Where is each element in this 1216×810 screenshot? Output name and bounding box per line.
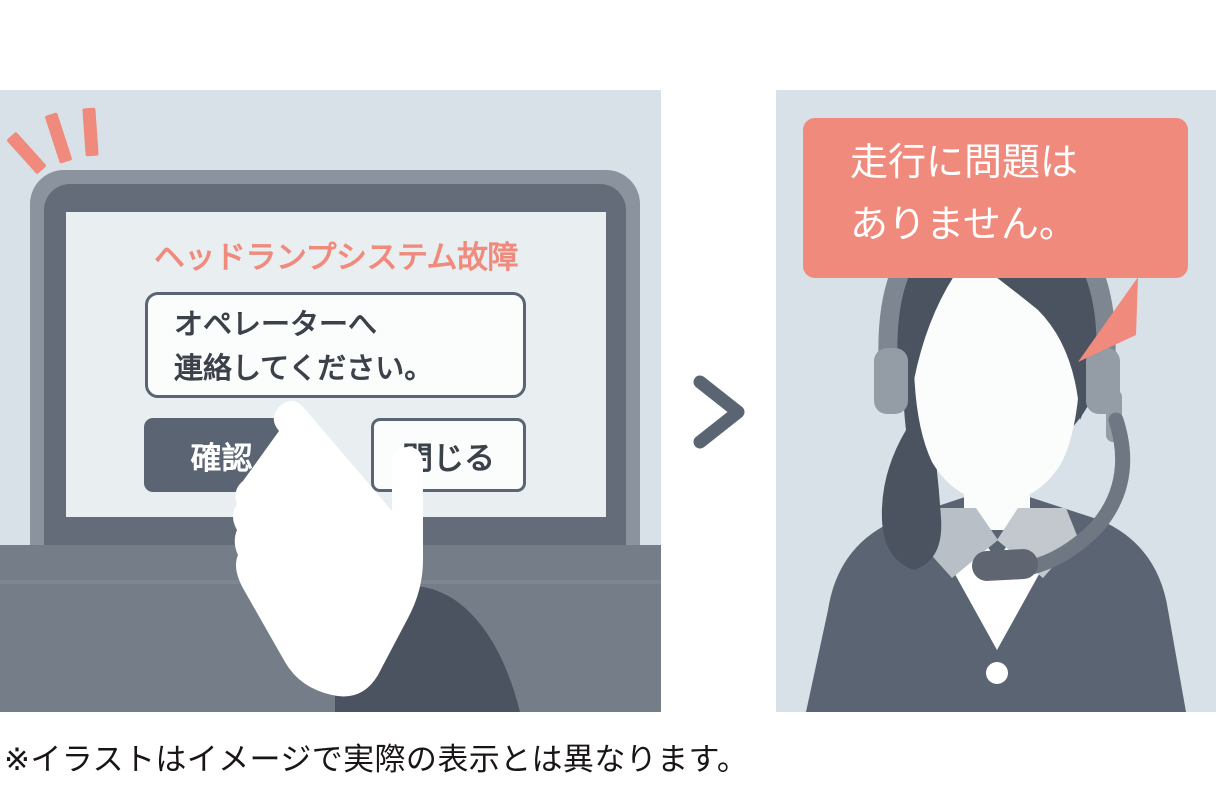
speech-bubble-tail-icon (1078, 277, 1138, 362)
flash-line-icon (82, 108, 98, 157)
chevron-right-icon (686, 372, 756, 452)
dashboard-seam-line (0, 580, 661, 584)
message-text: オペレーターへ 連絡してください。 (174, 303, 433, 391)
flash-line-icon (45, 112, 73, 164)
disclaimer-caption: ※イラストはイメージで実際の表示とは異なります。 (4, 734, 748, 779)
message-box: オペレーターへ 連絡してください。 (145, 292, 526, 398)
dashboard-lower-band (0, 545, 661, 712)
speech-bubble-text: 走行に問題は ありません。 (850, 132, 1078, 256)
confirm-button[interactable]: 確認 (144, 418, 299, 492)
left-illustration-panel: ヘッドランプシステム故障 オペレーターへ 連絡してください。 確認 閉じる (0, 90, 661, 712)
flash-line-icon (6, 132, 46, 175)
infotainment-screen: ヘッドランプシステム故障 オペレーターへ 連絡してください。 確認 閉じる (66, 212, 606, 517)
warning-title: ヘッドランプシステム故障 (66, 232, 606, 277)
close-button[interactable]: 閉じる (371, 418, 526, 492)
speech-bubble: 走行に問題は ありません。 (803, 118, 1188, 278)
